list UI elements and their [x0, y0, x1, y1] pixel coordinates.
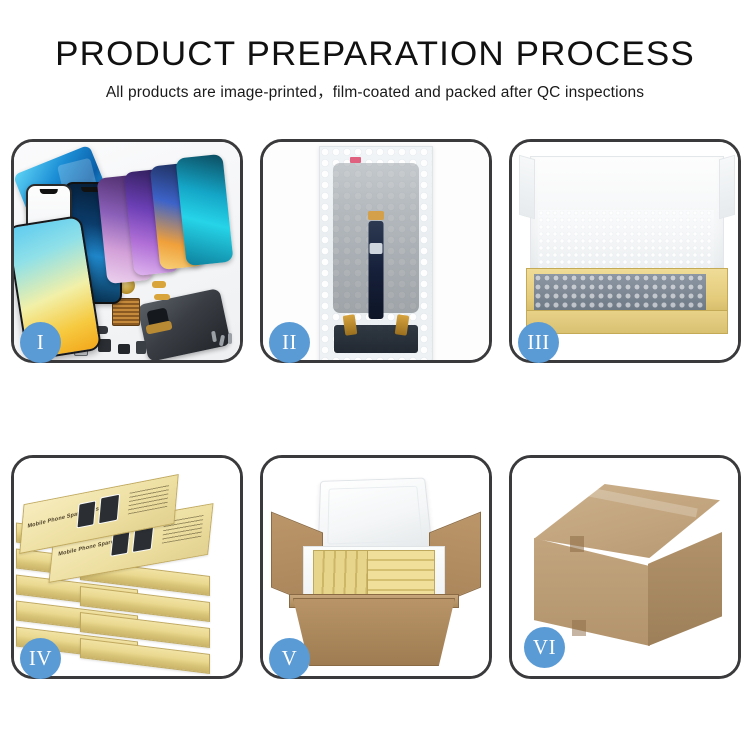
- yellow-box-front-wall: [526, 310, 728, 334]
- phone-notch-icon: [40, 189, 58, 194]
- gold-tab-left: [343, 314, 358, 335]
- spare-part-speaker: [118, 344, 130, 354]
- product-photo-thumb: [76, 500, 96, 528]
- process-step-grid: I II: [11, 139, 741, 679]
- product-photo-thumb: [98, 494, 120, 525]
- page-subtitle: All products are image-printed，film-coat…: [0, 74, 750, 103]
- process-step-panel-2: II: [260, 139, 492, 363]
- process-step-panel-5: V: [260, 455, 492, 679]
- step-badge-5: V: [269, 638, 310, 679]
- product-preparation-infographic: PRODUCT PREPARATION PROCESS All products…: [0, 0, 750, 750]
- foam-sheet: [538, 210, 714, 272]
- process-step-panel-4: Mobile Phone Spare Parts Mobile Phone Sp…: [11, 455, 243, 679]
- page-title: PRODUCT PREPARATION PROCESS: [0, 0, 750, 74]
- spare-part-flex-1: [152, 281, 166, 288]
- screw-icon: [228, 333, 232, 344]
- step-badge-1: I: [20, 322, 61, 363]
- step-badge-3: III: [518, 322, 559, 363]
- header: PRODUCT PREPARATION PROCESS All products…: [0, 0, 750, 103]
- spare-part-flex-2: [154, 294, 170, 300]
- yellow-boxes-row-2: [367, 550, 435, 600]
- gold-tab-top: [368, 211, 384, 220]
- step-badge-6: VI: [524, 627, 565, 668]
- carton-tape-patch-top: [570, 536, 584, 552]
- bubble-wrap-bag: [319, 146, 433, 360]
- shipping-carton-open: [293, 598, 455, 666]
- styrofoam-lid: [317, 478, 433, 557]
- flex-chip-icon: [370, 243, 383, 254]
- carton-tape-patch-bottom: [572, 620, 586, 636]
- process-step-panel-3: III: [509, 139, 741, 363]
- process-step-panel-1: I: [11, 139, 243, 363]
- step-badge-2: II: [269, 322, 310, 363]
- flex-cable: [369, 221, 384, 319]
- process-step-panel-6: VI: [509, 455, 741, 679]
- step-badge-4: IV: [20, 638, 61, 679]
- spare-part-button: [136, 341, 146, 354]
- bubble-wrapped-contents: [534, 274, 706, 310]
- spec-text-lines: [128, 484, 169, 514]
- qc-sticker: [350, 157, 361, 163]
